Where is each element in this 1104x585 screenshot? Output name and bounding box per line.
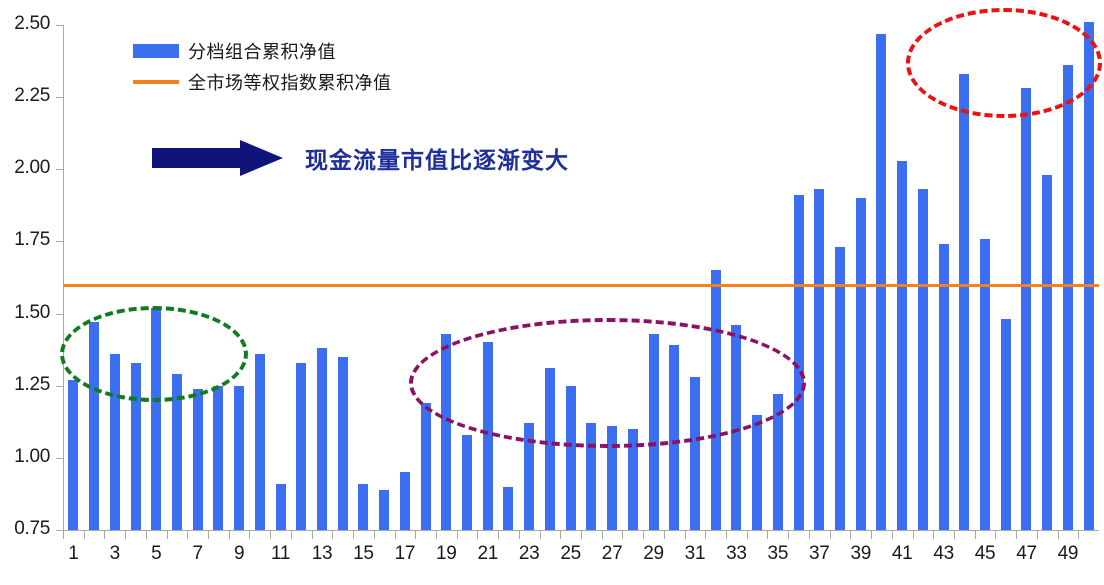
- x-axis-tick-label: 9: [234, 543, 244, 565]
- x-axis-tick-label: 11: [271, 543, 290, 565]
- x-axis-tick: [705, 531, 706, 539]
- x-axis-tick: [312, 531, 313, 539]
- y-axis-tick-label: 1.75: [4, 229, 50, 251]
- x-axis-tick: [63, 531, 64, 539]
- x-axis-tick-label: 41: [892, 543, 913, 565]
- x-axis-tick: [187, 531, 188, 539]
- x-axis-tick-label: 5: [151, 543, 161, 565]
- y-axis-tick: [56, 241, 64, 242]
- x-axis-tick: [125, 531, 126, 539]
- x-axis-tick-label: 31: [685, 543, 706, 565]
- x-axis-tick: [643, 531, 644, 539]
- x-axis-tick: [208, 531, 209, 539]
- highlight-ellipse-left-group: [60, 306, 248, 402]
- x-axis-tick: [767, 531, 768, 539]
- legend-label-portfolio: 分档组合累积净值: [188, 38, 336, 64]
- x-axis-tick-label: 49: [1058, 543, 1079, 565]
- x-axis-tick: [270, 531, 271, 539]
- bar: [296, 363, 306, 530]
- x-axis-tick-label: 45: [975, 543, 996, 565]
- bar: [1021, 88, 1031, 530]
- x-axis-tick-label: 15: [353, 543, 374, 565]
- bar: [503, 487, 513, 530]
- highlight-ellipse-right-group: [906, 8, 1102, 118]
- legend-label-market-index: 全市场等权指数累积净值: [188, 69, 392, 95]
- x-axis-tick-label: 39: [850, 543, 871, 565]
- x-axis-tick: [146, 531, 147, 539]
- bar: [856, 198, 866, 530]
- bar: [255, 354, 265, 530]
- x-axis-tick-label: 47: [1016, 543, 1037, 565]
- x-axis-tick: [622, 531, 623, 539]
- x-axis-tick: [436, 531, 437, 539]
- market-index-reference-line: [63, 284, 1099, 287]
- x-axis-tick: [104, 531, 105, 539]
- x-axis-tick: [167, 531, 168, 539]
- x-axis-tick-label: 1: [68, 543, 78, 565]
- bar: [876, 34, 886, 530]
- y-axis-tick-label: 2.25: [4, 85, 50, 107]
- x-axis-tick-label: 7: [193, 543, 203, 565]
- x-axis-tick: [229, 531, 230, 539]
- x-axis-tick: [602, 531, 603, 539]
- y-axis-tick: [56, 169, 64, 170]
- x-axis-tick: [809, 531, 810, 539]
- bar: [462, 435, 472, 530]
- annotation-group: 现金流量市值比逐渐变大: [152, 140, 569, 176]
- x-axis-tick: [353, 531, 354, 539]
- legend-item-portfolio: 分档组合累积净值: [133, 35, 493, 66]
- x-axis-tick-label: 21: [477, 543, 498, 565]
- x-axis-tick-label: 43: [933, 543, 954, 565]
- y-axis-tick-label: 2.00: [4, 157, 50, 179]
- y-axis-tick-label: 1.00: [4, 446, 50, 468]
- highlight-ellipse-middle-group: [409, 318, 806, 448]
- y-axis-tick: [56, 25, 64, 26]
- right-arrow-icon: [152, 140, 283, 176]
- bar: [400, 472, 410, 530]
- x-axis-tick-label: 25: [560, 543, 581, 565]
- bar: [1063, 65, 1073, 530]
- bar: [814, 189, 824, 530]
- x-axis-tick-label: 27: [602, 543, 623, 565]
- x-axis-tick-label: 29: [643, 543, 664, 565]
- x-axis-tick-label: 23: [519, 543, 540, 565]
- x-axis-tick: [415, 531, 416, 539]
- bar: [379, 490, 389, 530]
- x-axis-tick: [84, 531, 85, 539]
- x-axis-tick: [477, 531, 478, 539]
- bar: [317, 348, 327, 530]
- x-axis-tick-label: 3: [110, 543, 120, 565]
- x-axis-tick: [1037, 531, 1038, 539]
- x-axis-tick: [581, 531, 582, 539]
- legend: 分档组合累积净值 全市场等权指数累积净值: [133, 35, 493, 97]
- x-axis-tick: [830, 531, 831, 539]
- bar: [1001, 319, 1011, 530]
- annotation-text: 现金流量市值比逐渐变大: [305, 141, 569, 175]
- x-axis-tick: [395, 531, 396, 539]
- x-axis-tick: [374, 531, 375, 539]
- x-axis-tick: [291, 531, 292, 539]
- bar: [358, 484, 368, 530]
- y-axis-tick: [56, 458, 64, 459]
- y-axis-tick-label: 1.25: [4, 374, 50, 396]
- x-axis-tick-label: 37: [809, 543, 830, 565]
- x-axis-tick-label: 35: [768, 543, 789, 565]
- bar: [835, 247, 845, 530]
- y-axis-line: [63, 25, 64, 531]
- y-axis-tick-label: 1.50: [4, 302, 50, 324]
- x-axis-tick: [540, 531, 541, 539]
- x-axis-tick: [519, 531, 520, 539]
- x-axis-tick: [685, 531, 686, 539]
- x-axis-tick: [892, 531, 893, 539]
- x-axis-tick: [871, 531, 872, 539]
- chart-canvas: 0.751.001.251.501.752.002.252.50 1357911…: [0, 0, 1104, 585]
- x-axis-tick: [457, 531, 458, 539]
- bar: [939, 244, 949, 530]
- x-axis-tick: [975, 531, 976, 539]
- x-axis-tick: [726, 531, 727, 539]
- bar: [68, 380, 78, 530]
- x-axis-tick: [560, 531, 561, 539]
- bar: [213, 386, 223, 530]
- bar: [421, 403, 431, 530]
- x-axis-tick-label: 17: [395, 543, 416, 565]
- y-axis-tick: [56, 314, 64, 315]
- x-axis-tick: [664, 531, 665, 539]
- legend-item-market-index: 全市场等权指数累积净值: [133, 66, 493, 97]
- x-axis-tick: [249, 531, 250, 539]
- x-axis-tick: [1078, 531, 1079, 539]
- bar: [193, 389, 203, 530]
- bar: [918, 189, 928, 530]
- bar: [752, 415, 762, 530]
- x-axis-tick: [1058, 531, 1059, 539]
- bar: [1084, 22, 1094, 530]
- line-swatch-icon: [133, 80, 179, 84]
- x-axis-tick: [933, 531, 934, 539]
- x-axis-tick: [747, 531, 748, 539]
- bar: [980, 239, 990, 530]
- x-axis-tick-label: 19: [436, 543, 457, 565]
- x-axis-tick: [788, 531, 789, 539]
- x-axis-tick-label: 13: [312, 543, 333, 565]
- x-axis-tick: [995, 531, 996, 539]
- y-axis-tick: [56, 386, 64, 387]
- x-axis-tick: [332, 531, 333, 539]
- y-axis-tick-label: 2.50: [4, 13, 50, 35]
- x-axis-tick: [954, 531, 955, 539]
- bar: [897, 161, 907, 530]
- bar: [276, 484, 286, 530]
- y-axis-tick-label: 0.75: [4, 518, 50, 540]
- bar: [1042, 175, 1052, 530]
- x-axis-tick: [913, 531, 914, 539]
- x-axis-tick-label: 33: [726, 543, 747, 565]
- x-axis-tick: [850, 531, 851, 539]
- bar: [959, 74, 969, 530]
- y-axis-tick: [56, 97, 64, 98]
- x-axis-tick: [1016, 531, 1017, 539]
- x-axis-tick: [498, 531, 499, 539]
- bar: [338, 357, 348, 530]
- bar-swatch-icon: [133, 44, 179, 58]
- bar: [234, 386, 244, 530]
